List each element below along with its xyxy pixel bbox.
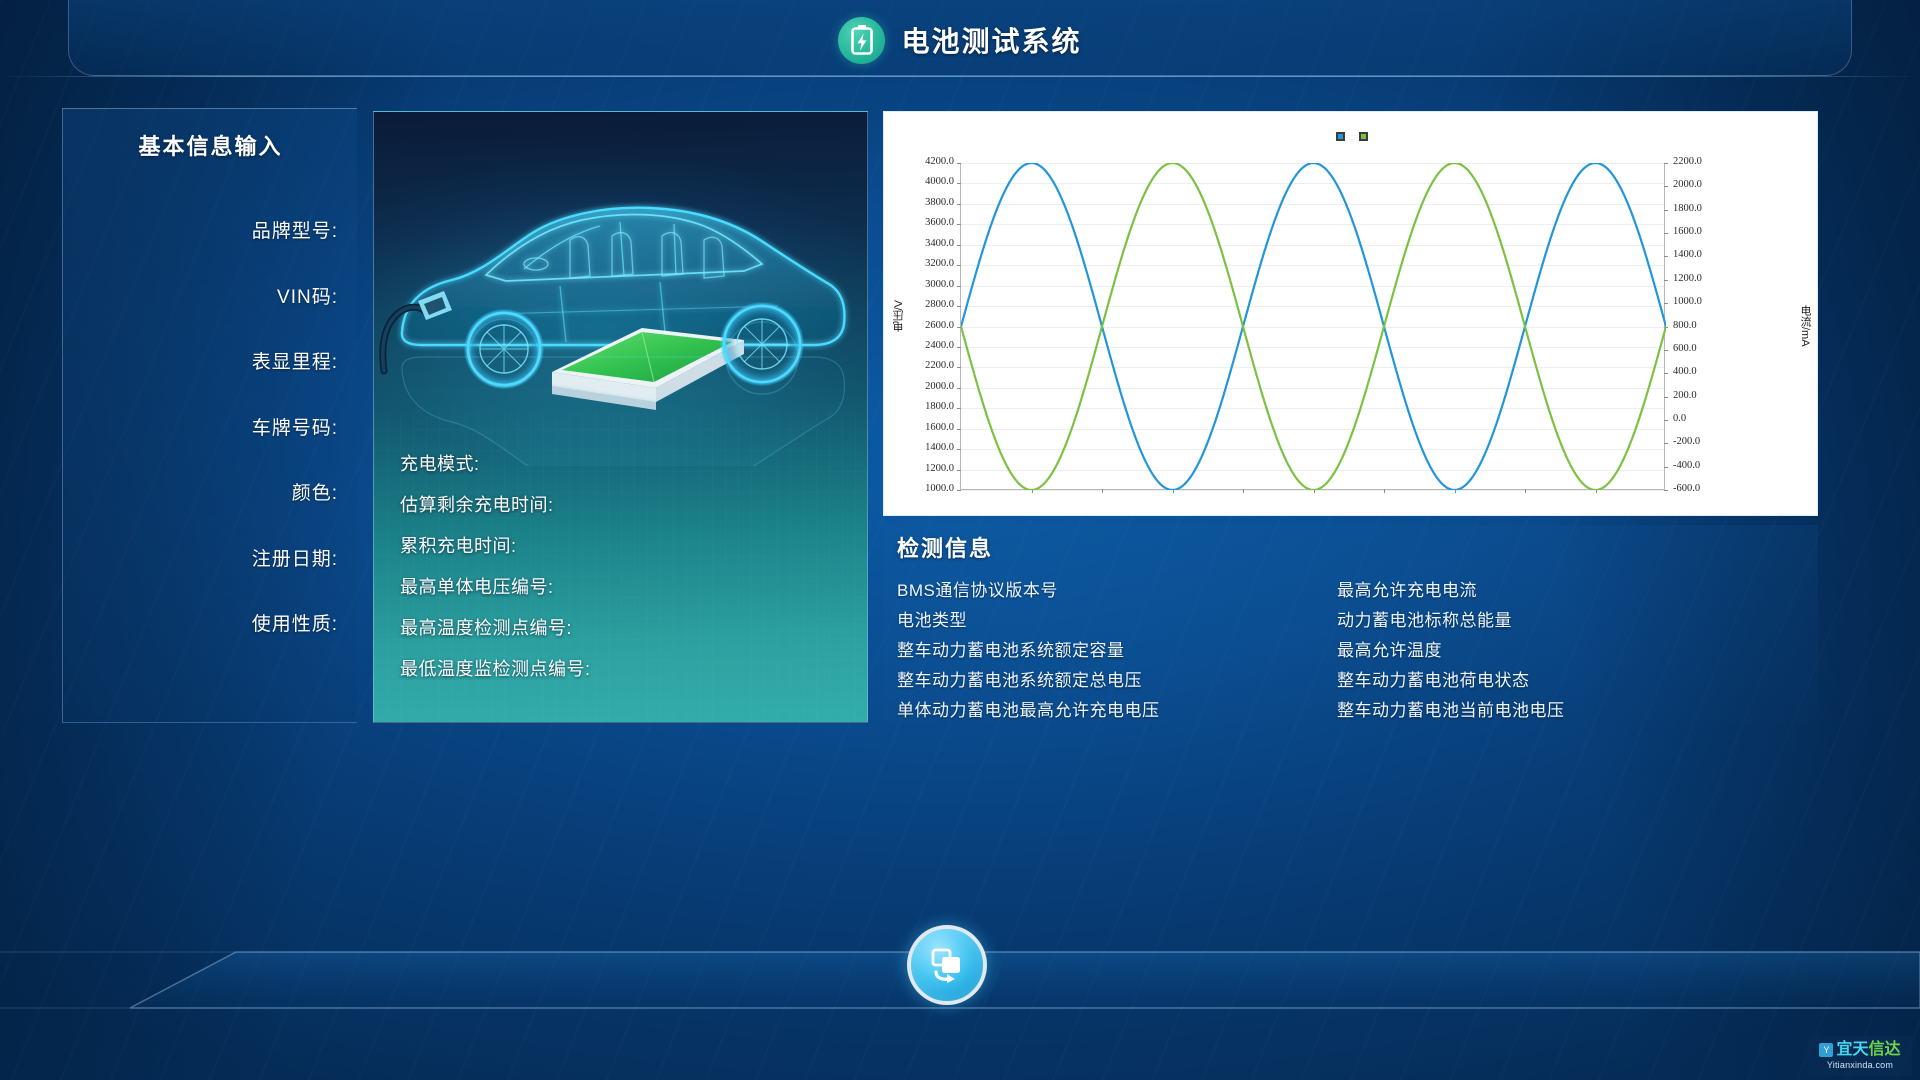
form-row-usage-type: 使用性质: (63, 590, 338, 656)
y-tick-right: 200.0 (1673, 391, 1697, 402)
y-tick-left: 4000.0 (888, 177, 954, 188)
y-tick-left: 1000.0 (888, 484, 954, 495)
y-tick-right: 400.0 (1673, 367, 1697, 378)
y-tick-left: 1600.0 (888, 423, 954, 434)
switch-page-button[interactable] (907, 925, 987, 1005)
charge-row-max-cell-voltage-id: 最高单体电压编号: (400, 565, 840, 606)
charging-info-list: 充电模式: 估算剩余充电时间: 累积充电时间: 最高单体电压编号: 最高温度检测… (400, 442, 840, 688)
y-tick-left: 3000.0 (888, 280, 954, 291)
y-tick-right: -400.0 (1673, 461, 1700, 472)
label-color: 颜色: (292, 478, 338, 505)
form-row-plate-number: 车牌号码: (63, 394, 338, 460)
switch-page-icon (927, 945, 967, 985)
voltage-current-chart-card: 电压/V 电流/mA 1000.01200.01400.01600.01800.… (883, 111, 1818, 516)
y-tick-right: 1800.0 (1673, 204, 1702, 215)
page-title: 电池测试系统 (901, 20, 1081, 60)
charge-row-min-temp-point-id: 最低温度监检测点编号: (400, 647, 840, 688)
watermark-logo-icon: Y (1819, 1043, 1833, 1057)
watermark: Y 宜天信达 Yitianxinda.com (1808, 1036, 1912, 1076)
plot-area (960, 163, 1665, 490)
label-brand-model: 品牌型号: (252, 216, 338, 243)
y-tick-right: -200.0 (1673, 437, 1700, 448)
label-max-cell-voltage-number: 最高单体电压编号: (400, 573, 554, 599)
label-accumulated-charge-time: 累积充电时间: (400, 532, 517, 558)
info-item-battery-type: 电池类型 (897, 603, 1337, 633)
label-usage-type: 使用性质: (252, 609, 338, 636)
chart-curves (961, 163, 1666, 490)
y-tick-left: 2600.0 (888, 321, 954, 332)
info-item-max-allowed-temperature: 最高允许温度 (1337, 633, 1797, 663)
chart-legend (884, 132, 1819, 141)
y-tick-left: 1400.0 (888, 443, 954, 454)
y-tick-right: 1200.0 (1673, 274, 1702, 285)
detection-info-column-right: 最高允许充电电流 动力蓄电池标称总能量 最高允许温度 整车动力蓄电池荷电状态 整… (1337, 573, 1797, 723)
charge-row-remaining-time: 估算剩余充电时间: (400, 483, 840, 524)
charging-status-panel: 充电模式: 估算剩余充电时间: 累积充电时间: 最高单体电压编号: 最高温度检测… (373, 111, 868, 723)
info-item-soc: 整车动力蓄电池荷电状态 (1337, 663, 1797, 693)
y-tick-left: 3400.0 (888, 239, 954, 250)
detection-info-panel: 检测信息 BMS通信协议版本号 电池类型 整车动力蓄电池系统额定容量 整车动力蓄… (883, 525, 1818, 723)
watermark-domain: Yitianxinda.com (1827, 1060, 1893, 1070)
info-item-cell-max-charge-voltage: 单体动力蓄电池最高允许充电电压 (897, 693, 1337, 723)
header-underline (0, 76, 1920, 77)
form-row-color: 颜色: (63, 459, 338, 525)
info-item-nominal-total-energy: 动力蓄电池标称总能量 (1337, 603, 1797, 633)
form-row-vin: VIN码: (63, 263, 338, 329)
charge-row-max-temp-point-id: 最高温度检测点编号: (400, 606, 840, 647)
y-tick-left: 1200.0 (888, 464, 954, 475)
gridline (961, 490, 1664, 491)
y-tick-left: 1800.0 (888, 402, 954, 413)
y-tick-left: 2400.0 (888, 341, 954, 352)
electric-vehicle-illustration (374, 136, 868, 466)
detection-info-title: 检测信息 (897, 531, 993, 563)
y-tick-left: 3200.0 (888, 259, 954, 270)
header: 电池测试系统 (0, 14, 1920, 66)
basic-info-panel: 基本信息输入 品牌型号: VIN码: 表显里程: 车牌号码: 颜色: 注册日期:… (62, 108, 357, 723)
y-tick-left: 2800.0 (888, 300, 954, 311)
y-tick-right: 1000.0 (1673, 297, 1702, 308)
info-item-bms-protocol-version: BMS通信协议版本号 (897, 573, 1337, 603)
label-plate-number: 车牌号码: (252, 413, 338, 440)
detection-info-columns: BMS通信协议版本号 电池类型 整车动力蓄电池系统额定容量 整车动力蓄电池系统额… (897, 573, 1817, 723)
charge-row-mode: 充电模式: (400, 442, 840, 483)
legend-swatch-current[interactable] (1359, 132, 1368, 141)
chart-body: 电压/V 电流/mA 1000.01200.01400.01600.01800.… (884, 150, 1819, 512)
y-tick-left: 3800.0 (888, 198, 954, 209)
info-item-max-charge-current: 最高允许充电电流 (1337, 573, 1797, 603)
label-max-temperature-point-number: 最高温度检测点编号: (400, 614, 572, 640)
label-vin: VIN码: (277, 282, 338, 309)
form-row-register-date: 注册日期: (63, 525, 338, 591)
info-item-current-battery-voltage: 整车动力蓄电池当前电池电压 (1337, 693, 1797, 723)
tick-mark-left (957, 490, 961, 491)
y-tick-right: 1400.0 (1673, 250, 1702, 261)
watermark-cn-part1: 宜天 (1836, 1041, 1868, 1058)
y-tick-right: -600.0 (1673, 484, 1700, 495)
y-tick-left: 4200.0 (888, 157, 954, 168)
tick-mark-right (1664, 490, 1668, 491)
label-estimated-remaining-charge-time: 估算剩余充电时间: (400, 491, 554, 517)
y-axis-title-current: 电流/mA (1797, 305, 1813, 347)
detection-info-column-left: BMS通信协议版本号 电池类型 整车动力蓄电池系统额定容量 整车动力蓄电池系统额… (897, 573, 1337, 723)
label-charge-mode: 充电模式: (400, 450, 480, 476)
y-tick-right: 2000.0 (1673, 180, 1702, 191)
sidebar-title: 基本信息输入 (63, 129, 358, 161)
info-item-rated-capacity: 整车动力蓄电池系统额定容量 (897, 633, 1337, 663)
y-tick-right: 600.0 (1673, 344, 1697, 355)
form-row-mileage: 表显里程: (63, 328, 338, 394)
y-tick-right: 1600.0 (1673, 227, 1702, 238)
y-tick-left: 3600.0 (888, 218, 954, 229)
watermark-cn-part2: 信达 (1869, 1041, 1901, 1058)
label-mileage: 表显里程: (252, 347, 338, 374)
form-row-brand-model: 品牌型号: (63, 197, 338, 263)
legend-swatch-voltage[interactable] (1336, 132, 1345, 141)
info-item-rated-total-voltage: 整车动力蓄电池系统额定总电压 (897, 663, 1337, 693)
label-register-date: 注册日期: (252, 544, 338, 571)
y-tick-left: 2000.0 (888, 382, 954, 393)
y-tick-right: 0.0 (1673, 414, 1686, 425)
y-tick-right: 800.0 (1673, 321, 1697, 332)
label-min-temperature-point-number: 最低温度监检测点编号: (400, 655, 591, 681)
basic-info-form: 品牌型号: VIN码: 表显里程: 车牌号码: 颜色: 注册日期: 使用性质: (63, 197, 338, 656)
y-tick-right: 2200.0 (1673, 157, 1702, 168)
y-tick-left: 2200.0 (888, 361, 954, 372)
charge-row-accumulated-time: 累积充电时间: (400, 524, 840, 565)
battery-bolt-icon (838, 17, 885, 64)
